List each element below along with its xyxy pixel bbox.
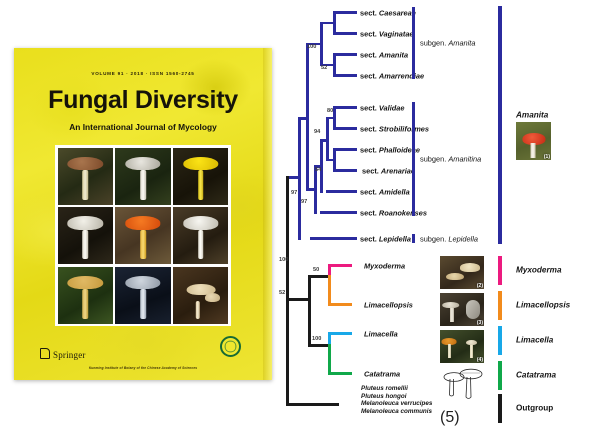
branch bbox=[333, 11, 357, 14]
tree-leaf-label: Limacella bbox=[364, 329, 398, 338]
branch bbox=[333, 127, 357, 130]
subgenus-label: subgen. Amanita bbox=[420, 39, 475, 48]
branch bbox=[286, 176, 289, 301]
bootstrap-value: 100 bbox=[307, 44, 316, 50]
genus-thumbnail: (4) bbox=[440, 330, 484, 363]
branch bbox=[308, 275, 330, 278]
cover-photo bbox=[115, 148, 170, 205]
branch bbox=[328, 264, 352, 267]
cover-subtitle: An International Journal of Mycology bbox=[14, 122, 272, 132]
cover-photo bbox=[173, 267, 228, 324]
genus-bar bbox=[498, 394, 502, 423]
cover-photo bbox=[173, 207, 228, 264]
genus-thumbnail: (1) bbox=[516, 122, 551, 160]
branch-node bbox=[326, 117, 329, 162]
genus-bar bbox=[498, 256, 502, 285]
cover-title: Fungal Diversity bbox=[14, 86, 272, 115]
thumbnail-number: (2) bbox=[477, 283, 483, 289]
bootstrap-value: 100 bbox=[279, 257, 288, 263]
tree-leaf-label: sect. Strobiliformes bbox=[360, 124, 429, 133]
bootstrap-value: 52 bbox=[321, 65, 327, 71]
branch-node bbox=[333, 106, 336, 130]
genus-thumbnail: (3) bbox=[440, 293, 484, 326]
genus-line-drawing: (5) bbox=[440, 366, 488, 404]
tree-leaf-label: sect. Lepidella bbox=[360, 234, 411, 243]
outgroup-taxon: Melanoleuca communis bbox=[361, 408, 432, 416]
branch bbox=[320, 211, 357, 214]
tree-leaf-label: sect. Amidella bbox=[360, 187, 410, 196]
branch bbox=[333, 74, 357, 77]
cover-photo bbox=[58, 207, 113, 264]
cover-photo bbox=[58, 148, 113, 205]
branch bbox=[286, 298, 310, 301]
genus-label: Catatrama bbox=[516, 371, 556, 380]
branch-node bbox=[328, 344, 331, 375]
springer-logo: Springer bbox=[40, 348, 86, 360]
thumbnail-number: (5) bbox=[440, 409, 488, 427]
cover-photo bbox=[115, 267, 170, 324]
genus-thumbnail: (2) bbox=[440, 256, 484, 289]
subgenus-bar bbox=[412, 7, 415, 79]
cover-photo-grid bbox=[55, 145, 231, 326]
subgenus-bar bbox=[412, 102, 415, 216]
catatrama-sketch-icon bbox=[440, 366, 488, 404]
branch bbox=[310, 237, 357, 240]
cover-photo bbox=[115, 207, 170, 264]
branch bbox=[326, 190, 357, 193]
tree-leaf-label: sect. Arenariae bbox=[362, 166, 415, 175]
outgroup-taxa-list: Pluteus romellii Pluteus hongoi Melanole… bbox=[361, 385, 432, 415]
phylogenetic-tree: sect. Caesareae sect. Vaginatae sect. Am… bbox=[276, 0, 600, 429]
cover-photo bbox=[173, 148, 228, 205]
branch bbox=[328, 332, 352, 335]
bootstrap-value: 50 bbox=[313, 267, 319, 273]
genus-bar bbox=[498, 326, 502, 355]
branch bbox=[333, 53, 357, 56]
bootstrap-value: 97 bbox=[301, 199, 307, 205]
genus-label: Amanita bbox=[516, 111, 548, 120]
tree-leaf-label: Catatrama bbox=[364, 369, 400, 378]
cover-volume-line: VOLUME 91 · 2018 · ISSN 1560-2745 bbox=[14, 71, 272, 76]
bootstrap-value: 100 bbox=[312, 336, 321, 342]
springer-mark-icon bbox=[40, 348, 50, 359]
branch bbox=[328, 303, 352, 306]
bootstrap-value: 80 bbox=[327, 108, 333, 114]
genus-label: Limacella bbox=[516, 336, 553, 345]
tree-leaf-label: sect. Validae bbox=[360, 103, 405, 112]
subgenus-label: subgen. Lepidella bbox=[420, 234, 478, 243]
outgroup-taxon: Melanoleuca verrucipes bbox=[361, 400, 432, 408]
branch-node bbox=[320, 139, 323, 193]
branch bbox=[328, 372, 352, 375]
genus-bar bbox=[498, 291, 502, 320]
genus-label: Myxoderma bbox=[516, 266, 562, 275]
genus-label: Outgroup bbox=[516, 404, 553, 413]
cover-photo bbox=[58, 267, 113, 324]
branch-node bbox=[308, 275, 311, 346]
tree-leaf-label: Myxoderma bbox=[364, 261, 405, 270]
genus-bar bbox=[498, 6, 502, 244]
tree-leaf-label: sect. Vaginatae bbox=[360, 29, 414, 38]
bootstrap-value: 94 bbox=[314, 129, 320, 135]
branch-node bbox=[320, 22, 323, 67]
thumbnail-number: (3) bbox=[477, 320, 483, 326]
publisher-label: Springer bbox=[53, 350, 86, 360]
kib-emblem-icon bbox=[220, 336, 241, 357]
tree-leaf-label: sect. Phalloideae bbox=[360, 145, 420, 154]
branch-node bbox=[333, 53, 336, 77]
subgenus-bar bbox=[412, 234, 415, 243]
outgroup-taxon: Pluteus romellii bbox=[361, 385, 432, 393]
branch bbox=[286, 298, 289, 405]
branch-node bbox=[333, 148, 336, 172]
bootstrap-value: 54 bbox=[315, 167, 321, 173]
branch bbox=[308, 344, 330, 347]
genus-label: Limacellopsis bbox=[516, 301, 570, 310]
bootstrap-value: 52 bbox=[279, 290, 285, 296]
tree-leaf-label: sect. Roanokenses bbox=[360, 208, 427, 217]
branch bbox=[333, 169, 357, 172]
thumbnail-number: (4) bbox=[477, 357, 483, 363]
outgroup-taxon: Pluteus hongoi bbox=[361, 393, 432, 401]
branch-node bbox=[333, 11, 336, 35]
thumbnail-number: (1) bbox=[544, 154, 550, 160]
branch bbox=[333, 106, 357, 109]
branch-node bbox=[298, 117, 301, 240]
tree-leaf-label: Limacellopsis bbox=[364, 300, 413, 309]
branch-node bbox=[306, 43, 309, 191]
branch-node bbox=[328, 275, 331, 305]
genus-bar bbox=[498, 361, 502, 390]
journal-cover: VOLUME 91 · 2018 · ISSN 1560-2745 Fungal… bbox=[14, 48, 272, 380]
bootstrap-value: 97 bbox=[291, 190, 297, 196]
branch bbox=[333, 148, 357, 151]
branch bbox=[333, 32, 357, 35]
branch bbox=[286, 403, 339, 406]
tree-leaf-label: sect. Amanita bbox=[360, 50, 408, 59]
institute-label: Kunming Institute of Botany of the Chine… bbox=[14, 366, 272, 370]
subgenus-label: subgen. Amanitina bbox=[420, 155, 481, 164]
tree-leaf-label: sect. Caesareae bbox=[360, 8, 416, 17]
